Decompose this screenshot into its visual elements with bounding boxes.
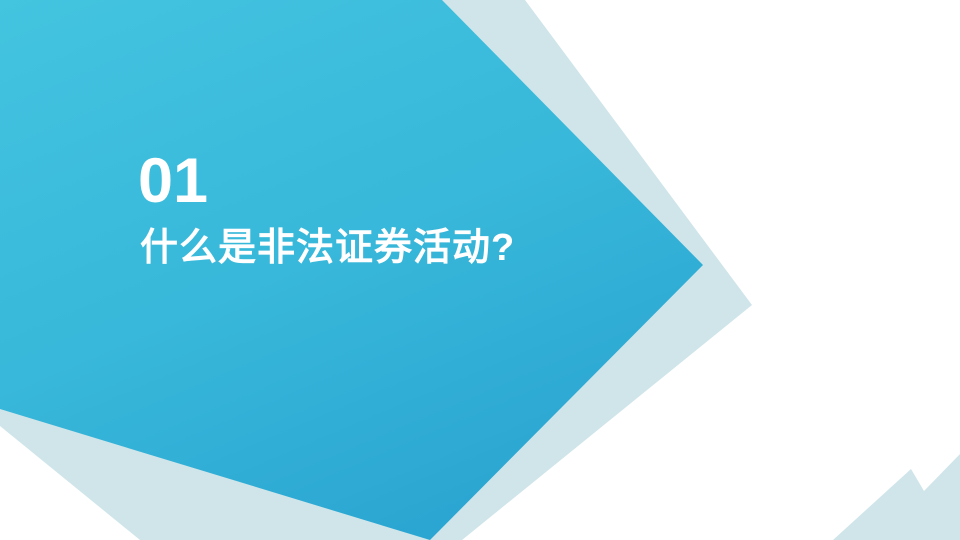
section-number: 01 [138, 150, 515, 213]
section-title-block: 01 什么是非法证券活动? [138, 150, 515, 271]
slide-canvas: 01 什么是非法证券活动? [0, 0, 960, 540]
page-title: 什么是非法证券活动? [140, 227, 515, 271]
